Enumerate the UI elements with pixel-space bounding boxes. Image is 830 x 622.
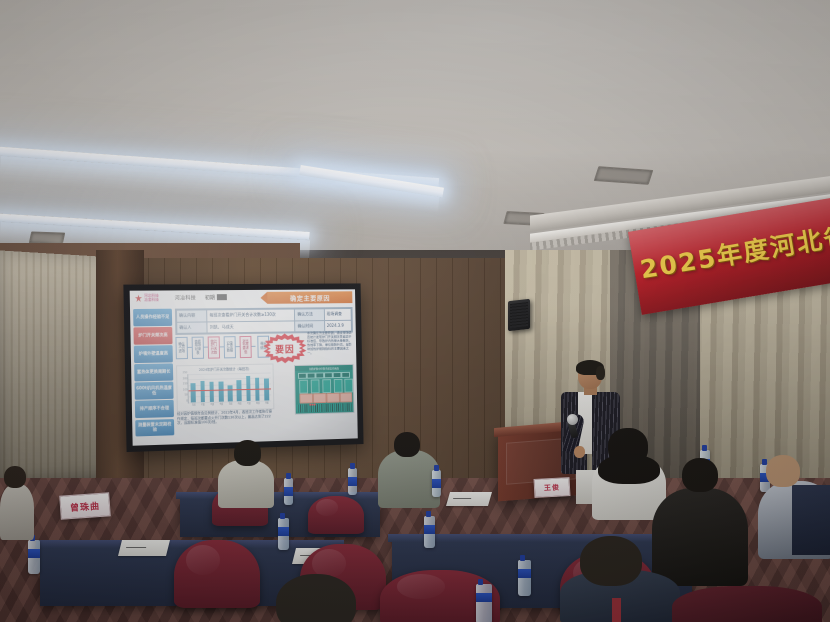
flow-box-2: 查看现场记录表 bbox=[192, 337, 204, 359]
chart-x-tick: 2班 bbox=[199, 402, 207, 406]
slide-header: 河北科技 冶金科技 河冶科技 初期 确定主要原因 bbox=[130, 289, 356, 306]
cause-item-1: 人员操作经验不足 bbox=[133, 309, 172, 326]
hmi-tile bbox=[315, 372, 324, 378]
logo-line-2: 冶金科技 bbox=[144, 298, 159, 303]
water-bottle bbox=[28, 540, 40, 574]
person-torso bbox=[378, 450, 440, 508]
chart-bar bbox=[191, 383, 196, 402]
hmi-heat-zone bbox=[340, 392, 353, 402]
hmi-tick-strip bbox=[297, 403, 353, 412]
slide-stage-tag: 初期 bbox=[205, 294, 215, 301]
cause-label: 人员操作经验不足 bbox=[136, 315, 170, 320]
presentation-slide: 河北科技 冶金科技 河冶科技 初期 确定主要原因 人员操作经验不足 炉门开关频次… bbox=[130, 289, 358, 445]
company-logo-icon bbox=[135, 295, 142, 302]
hmi-alarm-text: ●●● bbox=[309, 403, 316, 406]
analysis-text: 本次确认为主要原因，通过现场调查统计发现炉门开关频次普遍高于标准值，导致炉内热量… bbox=[307, 331, 353, 355]
bar-chart: 2024年炉门开关次数统计（每班次） 0501001502002501班2班3班… bbox=[176, 363, 274, 411]
presenter-hair-side bbox=[596, 366, 605, 380]
table-cell-value-2: 现场调查 bbox=[324, 308, 351, 320]
flow-box-1: 确认人员进场 bbox=[175, 337, 188, 359]
chart-bar bbox=[228, 386, 233, 402]
person-head bbox=[276, 574, 356, 622]
cause-item-7: 测量装置未定期校验 bbox=[135, 419, 174, 437]
chart-bar bbox=[219, 382, 224, 402]
placard-center-text: 王俊 bbox=[544, 482, 561, 493]
projection-screen: 河北科技 冶金科技 河冶科技 初期 确定主要原因 人员操作经验不足 炉门开关频次… bbox=[130, 289, 358, 445]
chart-bar bbox=[200, 381, 205, 402]
projection-screen-frame: 河北科技 冶金科技 河冶科技 初期 确定主要原因 人员操作经验不足 炉门开关频次… bbox=[123, 283, 363, 452]
person-head bbox=[234, 440, 261, 466]
audience-person-1 bbox=[218, 440, 274, 502]
chart-plot-area: 0501001502002501班2班3班4班5班6班7班8班9班 bbox=[187, 372, 271, 403]
cause-item-6: 排产顺序不合理 bbox=[135, 400, 174, 418]
chart-x-tick: 3班 bbox=[208, 402, 216, 406]
logo-text: 河北科技 冶金科技 bbox=[144, 294, 159, 303]
table-cell-label: 确认人 bbox=[177, 321, 208, 333]
chart-x-tick: 4班 bbox=[217, 402, 225, 406]
cause-list: 人员操作经验不足 炉门开关频次高 炉墙外壁温度高 蓄热体更换周期长 600t机风… bbox=[133, 309, 174, 438]
table-cell-label: 确认内容 bbox=[176, 310, 207, 322]
wall-speaker bbox=[508, 299, 530, 331]
table-cell-value: 刘凯、马成天 bbox=[207, 320, 295, 333]
chart-x-tick: 1班 bbox=[190, 402, 198, 406]
table-cell-label-2: 确认方法 bbox=[295, 309, 324, 321]
slide-title-ribbon: 确定主要原因 bbox=[267, 291, 352, 304]
cause-label: 炉门开关频次高 bbox=[138, 333, 167, 338]
chart-y-tick: 150 bbox=[178, 383, 187, 386]
hmi-tile bbox=[333, 372, 342, 378]
placard-left-text: 曾珠曲 bbox=[70, 498, 101, 513]
person-collar-stripe bbox=[612, 598, 621, 622]
hmi-column bbox=[311, 379, 320, 393]
hmi-column bbox=[344, 379, 353, 393]
hmi-screenshot: 加热炉集中控制系统监控画面 bbox=[294, 364, 354, 415]
paper-sheet bbox=[118, 540, 170, 556]
chart-x-tick: 5班 bbox=[227, 401, 235, 405]
badge-text: 要因 bbox=[263, 333, 306, 363]
person-head bbox=[394, 432, 420, 457]
person-head bbox=[766, 455, 800, 487]
chart-bars bbox=[188, 372, 271, 402]
chair bbox=[308, 496, 364, 534]
chart-y-tick: 200 bbox=[178, 377, 187, 380]
slide-company-name: 河冶科技 bbox=[175, 294, 197, 301]
person-torso bbox=[218, 460, 274, 508]
hmi-heat-zone bbox=[326, 393, 340, 403]
person-head bbox=[580, 536, 642, 586]
cause-label: 测量装置未定期校验 bbox=[136, 422, 173, 433]
hmi-tile bbox=[298, 373, 307, 379]
paper-sheet bbox=[446, 492, 492, 506]
cause-label: 600t机风机热温度低 bbox=[136, 385, 173, 396]
chart-x-tick: 7班 bbox=[245, 401, 253, 405]
audience-person-foreground-left bbox=[560, 536, 680, 622]
audience-person-foreground-right bbox=[672, 570, 822, 622]
water-bottle bbox=[278, 518, 289, 550]
chair bbox=[174, 540, 260, 608]
hmi-heat-zone bbox=[299, 393, 313, 403]
audience-person-2 bbox=[378, 432, 440, 506]
hmi-column bbox=[334, 379, 343, 393]
chart-x-tick: 6班 bbox=[236, 401, 244, 405]
water-bottle bbox=[432, 470, 441, 497]
slide-caption: 经对高炉值钢年会见例统计，2023年4月，各班次工作者执行操作规定，每班次都要点… bbox=[177, 409, 273, 426]
microphone-icon bbox=[567, 414, 578, 425]
flow-box-5: 对比标准要求值 bbox=[239, 336, 251, 358]
cause-item-2: 炉门开关频次高 bbox=[133, 327, 172, 344]
chart-bar bbox=[237, 380, 242, 401]
hmi-tile bbox=[324, 372, 333, 378]
hmi-tile bbox=[341, 372, 350, 378]
audience-person-left-edge bbox=[0, 466, 34, 536]
cause-item-4: 蓄热体更换周期长 bbox=[134, 364, 173, 382]
person-torso bbox=[672, 586, 822, 622]
water-bottle bbox=[424, 516, 435, 548]
chart-y-tick: 250 bbox=[178, 371, 187, 374]
person-torso bbox=[0, 484, 34, 540]
cause-label: 蓄热体更换周期长 bbox=[137, 370, 170, 376]
chart-y-tick: 50 bbox=[179, 394, 188, 397]
person-long-hair bbox=[598, 454, 660, 484]
water-bottle bbox=[518, 560, 531, 596]
audience-person-foreground-center bbox=[256, 574, 386, 622]
placard-center: 王俊 bbox=[534, 477, 571, 498]
chart-bar bbox=[264, 379, 269, 401]
hmi-heat-zone bbox=[313, 393, 327, 403]
key-factor-badge: 要因 bbox=[263, 333, 306, 363]
chart-y-tick: 100 bbox=[178, 388, 187, 391]
chart-x-tick: 8班 bbox=[254, 401, 262, 405]
water-bottle bbox=[348, 468, 357, 495]
flow-box-4: 记录汇总数据 bbox=[224, 336, 236, 358]
cause-label: 炉墙外壁温度高 bbox=[139, 351, 168, 356]
speaker-grill bbox=[510, 302, 528, 328]
cause-item-3: 炉墙外壁温度高 bbox=[134, 345, 173, 362]
chart-x-tick: 9班 bbox=[263, 400, 271, 404]
photo-scene: 2025年度河北省冶金 河北科技 冶金科技 河冶科技 初期 确定主要原因 bbox=[0, 0, 830, 622]
water-bottle bbox=[284, 478, 293, 505]
hmi-column bbox=[299, 380, 308, 394]
person-head bbox=[682, 458, 718, 492]
person-head bbox=[4, 466, 26, 488]
process-flow: 确认人员进场 查看现场记录表 统计炉门开关次数 记录汇总数据 对比标准要求值 得… bbox=[175, 334, 271, 366]
placard-left: 曾珠曲 bbox=[59, 492, 111, 519]
hmi-tile bbox=[307, 373, 316, 379]
person-jacket-panel bbox=[792, 485, 830, 555]
slide-tag-block bbox=[217, 294, 227, 300]
cause-item-5: 600t机风机热温度低 bbox=[135, 382, 174, 400]
chart-y-tick: 0 bbox=[179, 399, 188, 402]
chart-bar bbox=[209, 381, 214, 402]
flow-arrow-5 bbox=[252, 346, 256, 347]
cause-label: 排产顺序不合理 bbox=[140, 406, 169, 412]
table-cell-value: 每班次查看炉门开关合计次数≥130次 bbox=[207, 309, 295, 321]
water-bottle bbox=[476, 584, 492, 622]
hmi-column bbox=[322, 379, 331, 393]
slide-title: 确定主要原因 bbox=[290, 293, 330, 302]
audience-person-right bbox=[758, 455, 830, 555]
presenter-hand bbox=[574, 446, 585, 458]
flow-box-3: 统计炉门开关次数 bbox=[208, 336, 220, 358]
chart-title: 2024年炉门开关次数统计（每班次） bbox=[177, 365, 273, 372]
